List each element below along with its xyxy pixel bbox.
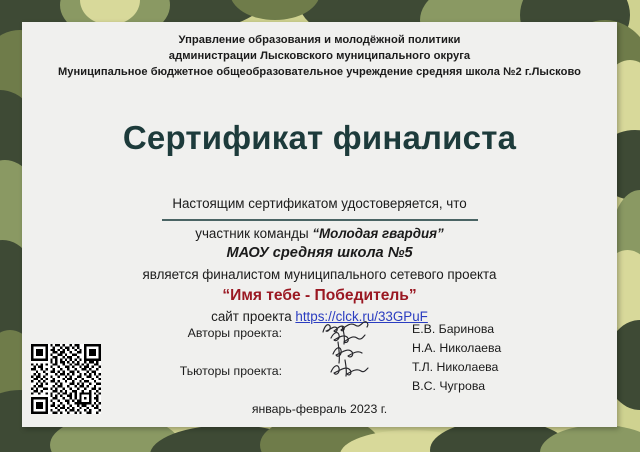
signer-name-4: В.С. Чугрова (412, 379, 485, 393)
page-title: Сертификат финалиста (22, 119, 617, 157)
header-block: Управление образования и молодёжной поли… (22, 32, 617, 80)
school-line: МАОУ средняя школа №5 (22, 243, 617, 264)
camo-blob (540, 425, 640, 452)
header-line-1: Управление образования и молодёжной поли… (22, 32, 617, 48)
tutors-label: Тьюторы проекта: (132, 364, 282, 378)
header-line-2: администрации Лысковского муниципального… (22, 48, 617, 64)
project-name: “Имя тебе - Победитель” (22, 285, 617, 307)
header-line-3: Муниципальное бюджетное общеобразователь… (22, 64, 617, 80)
body-block: Настоящим сертификатом удостоверяется, ч… (22, 172, 617, 326)
signer-name-3: Т.Л. Николаева (412, 360, 498, 374)
authors-label: Авторы проекта: (132, 326, 282, 340)
team-prefix: участник команды (195, 226, 308, 241)
certificate-card: Управление образования и молодёжной поли… (22, 22, 617, 427)
team-line: участник команды “Молодая гвардия” (22, 224, 617, 243)
signer-name-1: Е.В. Баринова (412, 322, 494, 336)
attestation-line: Настоящим сертификатом удостоверяется, ч… (22, 194, 617, 213)
team-name: “Молодая гвардия” (312, 226, 443, 241)
finalist-line: является финалистом муниципального сетев… (22, 265, 617, 284)
date-text: январь-февраль 2023 г. (22, 402, 617, 416)
handwritten-signatures-icon (317, 318, 387, 390)
certificate-page: Управление образования и молодёжной поли… (0, 0, 640, 452)
divider-rule (162, 219, 478, 221)
site-prefix: сайт проекта (211, 309, 292, 324)
qr-code[interactable] (31, 344, 101, 414)
signer-name-2: Н.А. Николаева (412, 341, 501, 355)
